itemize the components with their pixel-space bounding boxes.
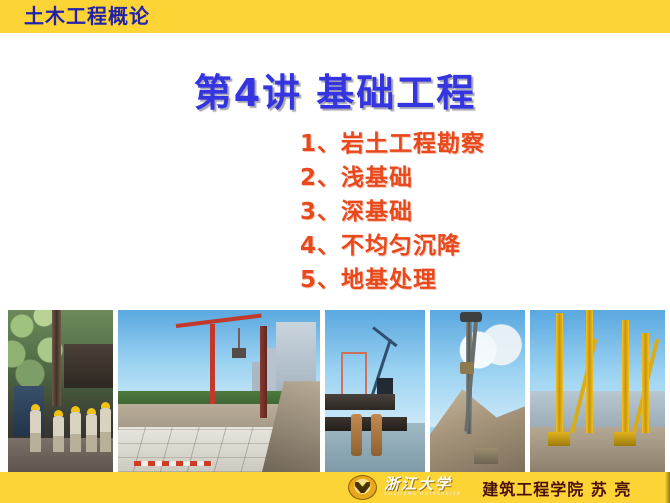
list-item-index: 5、 bbox=[300, 267, 341, 293]
pile-driver-head bbox=[460, 312, 482, 322]
university-name-en: ZHEJIANG UNIVERSITY bbox=[384, 493, 461, 498]
site-shed bbox=[64, 344, 113, 388]
photo-deep-excavation-pit-with-tower-crane bbox=[118, 310, 320, 472]
list-item-index: 1、 bbox=[300, 131, 341, 157]
worker-figure bbox=[53, 416, 64, 452]
lecture-number-label: 第4讲 bbox=[194, 71, 302, 115]
piling-rig-base bbox=[548, 432, 570, 446]
piling-rig-mast bbox=[622, 320, 629, 433]
outline-list: 1、岩土工程勘察 2、浅基础 3、深基础 4、不均匀沉降 5、地基处理 bbox=[300, 127, 660, 297]
list-item-label: 岩土工程勘察 bbox=[341, 131, 485, 157]
list-item-label: 深基础 bbox=[341, 199, 413, 225]
crane-load bbox=[232, 348, 246, 358]
photo-pile-driver-on-earth-mound bbox=[430, 310, 525, 472]
worker-figure bbox=[100, 408, 111, 452]
drill-mast bbox=[52, 310, 61, 406]
slide-canvas: 土木工程概论 第4讲基础工程 1、岩土工程勘察 2、浅基础 3、深基础 4、不均… bbox=[0, 0, 670, 503]
department-and-lecturer: 建筑工程学院 苏 亮 bbox=[482, 476, 631, 500]
footer-band: 浙江大学 ZHEJIANG UNIVERSITY 建筑工程学院 苏 亮 bbox=[0, 472, 670, 503]
worker-figure bbox=[86, 414, 97, 452]
photo-borehole-drilling-rig-with-workers bbox=[8, 310, 113, 472]
piling-rig-base bbox=[614, 432, 636, 446]
pile-driver-base bbox=[474, 448, 498, 464]
worker-figure bbox=[30, 410, 41, 452]
footer-content: 浙江大学 ZHEJIANG UNIVERSITY 建筑工程学院 苏 亮 bbox=[348, 472, 631, 503]
university-name-cn: 浙江大学 bbox=[384, 477, 461, 492]
lecture-topic-label: 基础工程 bbox=[316, 71, 476, 115]
pile-rig-mast bbox=[260, 326, 267, 418]
list-item: 1、岩土工程勘察 bbox=[300, 127, 660, 161]
tower-crane-mast bbox=[210, 324, 215, 404]
list-item-index: 2、 bbox=[300, 165, 341, 191]
list-item-index: 3、 bbox=[300, 199, 341, 225]
platform-lower-deck bbox=[325, 417, 407, 431]
zhejiang-university-seal-icon bbox=[348, 475, 377, 500]
list-item-label: 浅基础 bbox=[341, 165, 413, 191]
crane-hoist-line bbox=[238, 328, 240, 350]
platform-upper-deck bbox=[325, 394, 395, 410]
piling-rig-mast bbox=[586, 310, 593, 433]
list-item: 4、不均匀沉降 bbox=[300, 229, 660, 263]
piling-rig-mast bbox=[642, 333, 649, 433]
piling-rig-mast bbox=[556, 313, 563, 433]
zhejiang-university-wordmark: 浙江大学 ZHEJIANG UNIVERSITY bbox=[384, 477, 461, 498]
list-item-label: 地基处理 bbox=[341, 267, 437, 293]
list-item-index: 4、 bbox=[300, 233, 341, 259]
list-item: 2、浅基础 bbox=[300, 161, 660, 195]
header-band: 土木工程概论 bbox=[0, 0, 670, 33]
course-title: 土木工程概论 bbox=[24, 3, 150, 30]
platform-leg bbox=[371, 414, 382, 456]
photo-strip bbox=[0, 310, 670, 472]
photo-offshore-platform-marine-piling bbox=[325, 310, 425, 472]
platform-leg bbox=[351, 414, 362, 456]
worker-figure bbox=[70, 412, 81, 452]
list-item: 3、深基础 bbox=[300, 195, 660, 229]
photo-yellow-piling-rigs-on-site bbox=[530, 310, 665, 472]
safety-barrier bbox=[134, 461, 212, 466]
list-item: 5、地基处理 bbox=[300, 263, 660, 297]
page-title: 第4讲基础工程 bbox=[0, 62, 670, 117]
list-item-label: 不均匀沉降 bbox=[341, 233, 461, 259]
drop-hammer bbox=[460, 362, 474, 374]
